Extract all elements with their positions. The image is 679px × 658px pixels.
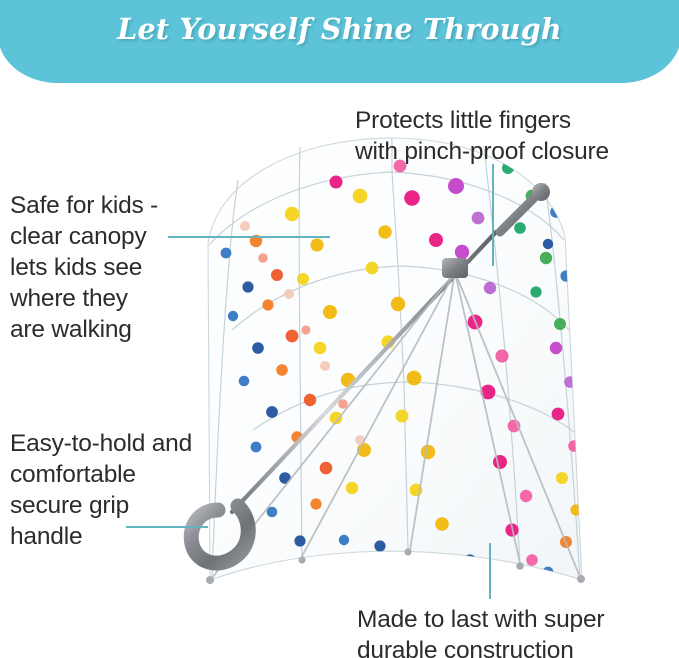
infographic-page: Let Yourself Shine Through <box>0 0 679 658</box>
polka-dot-pattern <box>221 160 582 578</box>
page-title: Let Yourself Shine Through <box>0 12 679 46</box>
pinch-proof-closure-runner <box>442 258 468 278</box>
umbrella-shaft <box>212 232 580 578</box>
header-banner: Let Yourself Shine Through <box>0 0 679 83</box>
callout-clear-canopy: Safe for kids - clear canopy lets kids s… <box>10 190 210 345</box>
connector-line-durable <box>489 543 491 599</box>
umbrella-canopy <box>206 138 585 584</box>
connector-line-pinch-closure <box>492 164 494 266</box>
callout-pinch-proof-closure: Protects little fingers with pinch-proof… <box>355 105 679 167</box>
canopy-tips <box>206 548 585 584</box>
callout-durable-construction: Made to last with super durable construc… <box>357 604 677 658</box>
umbrella-ferrule <box>500 183 550 232</box>
callout-grip-handle: Easy-to-hold and comfortable secure grip… <box>10 428 240 552</box>
